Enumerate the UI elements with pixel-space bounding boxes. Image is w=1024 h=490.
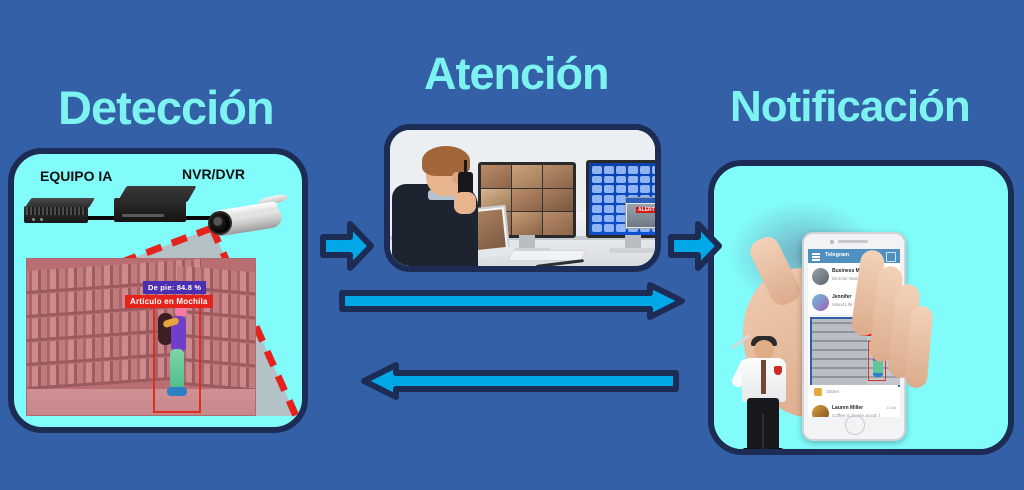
page-title-deteccion: Detección xyxy=(58,80,274,135)
chat-preview: Island Life xyxy=(832,302,853,307)
avatar xyxy=(812,405,829,417)
telegram-app-bar: Telegram xyxy=(808,249,900,263)
attention-panel: ALERT xyxy=(384,124,661,272)
alert-window: ALERT xyxy=(625,197,661,229)
chat-name: Lauren Miller xyxy=(832,405,863,411)
nvr-dvr-icon xyxy=(114,186,192,224)
security-guard-figure xyxy=(734,334,794,455)
telegram-app-title: Telegram xyxy=(825,252,849,258)
security-operator xyxy=(392,150,488,272)
alert-window-label: ALERT xyxy=(636,207,657,213)
sticker-label: Sticker xyxy=(826,389,839,394)
desktop-monitor: ALERT xyxy=(586,160,661,238)
sticker-row[interactable]: Sticker xyxy=(810,385,898,399)
page-title-notificacion: Notificación xyxy=(730,82,970,132)
operator-scene: ALERT xyxy=(390,130,655,266)
theft-tag: Artículo en Mochila xyxy=(125,295,213,308)
equipo-ia-label: EQUIPO IA xyxy=(40,168,112,184)
arrow-detection-to-notification xyxy=(338,282,686,320)
home-button[interactable] xyxy=(845,415,865,435)
store-floor xyxy=(27,389,255,415)
chat-name: Jennifer xyxy=(832,294,851,300)
sticker-icon xyxy=(814,388,822,396)
arrow-detection-to-attention xyxy=(320,218,374,274)
bullet-camera-icon xyxy=(210,196,296,250)
diagram-canvas: Detección Atención Notificación xyxy=(0,0,1024,490)
arrow-notification-to-detection xyxy=(358,362,680,400)
avatar xyxy=(812,268,829,285)
detection-scene: EQUIPO IA NVR/DVR De pie: 84.8 % xyxy=(14,154,302,427)
chat-time: 11:58 xyxy=(886,405,896,410)
notification-scene: Telegram Business Managers Director Name… xyxy=(714,166,1008,449)
detected-person xyxy=(159,305,193,409)
hamburger-menu-icon[interactable] xyxy=(812,253,820,255)
nvr-dvr-label: NVR/DVR xyxy=(182,166,245,182)
avatar xyxy=(812,294,829,311)
front-camera-icon xyxy=(830,240,834,244)
radio-antenna-icon xyxy=(731,334,751,349)
ai-equipment-icon xyxy=(24,198,92,224)
notification-panel: Telegram Business Managers Director Name… xyxy=(708,160,1014,455)
pose-tag: De pie: 84.8 % xyxy=(143,281,206,294)
earpiece-speaker xyxy=(838,240,868,243)
compose-icon[interactable] xyxy=(886,252,896,262)
arrow-attention-to-notification xyxy=(668,218,722,274)
detection-snapshot: De pie: 84.8 % Artículo en Mochila xyxy=(26,258,256,416)
page-title-atencion: Atención xyxy=(424,48,609,100)
detection-panel: EQUIPO IA NVR/DVR De pie: 84.8 % xyxy=(8,148,308,433)
